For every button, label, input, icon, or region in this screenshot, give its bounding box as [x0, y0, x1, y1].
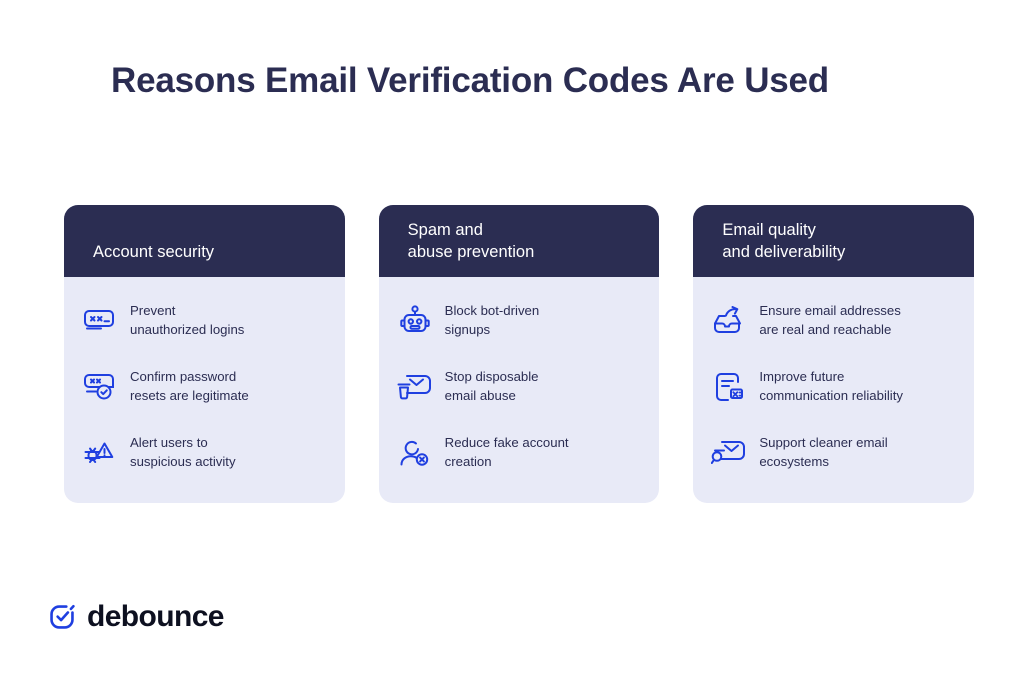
list-item-line-1: Stop disposable [445, 369, 539, 384]
list-item-line-1: Confirm password [130, 369, 236, 384]
list-item-line-1: Improve future [759, 369, 844, 384]
list-item: Confirm password resets are legitimate [82, 367, 327, 411]
list-item: Prevent unauthorized logins [82, 301, 327, 345]
card-header-line-1: Account security [93, 242, 345, 264]
card-header-line-1: Email quality [722, 220, 974, 242]
user-blocked-icon [397, 435, 433, 471]
card-header-line-2: abuse prevention [408, 242, 660, 264]
list-item-line-1: Alert users to [130, 435, 208, 450]
bug-alert-icon [82, 435, 118, 471]
list-item-text: Reduce fake account creation [445, 433, 569, 471]
list-item-line-1: Ensure email addresses [759, 303, 900, 318]
list-item-line-2: email abuse [445, 387, 539, 406]
list-item: Stop disposable email abuse [397, 367, 642, 411]
password-field-icon [82, 303, 118, 339]
card-account-security: Account security Prev [64, 205, 345, 503]
brand-wordmark: debounce [87, 602, 224, 632]
robot-icon [397, 303, 433, 339]
infographic-page: Reasons Email Verification Codes Are Use… [0, 0, 1024, 683]
list-item: Reduce fake account creation [397, 433, 642, 477]
list-item-line-2: suspicious activity [130, 453, 236, 472]
list-item-text: Ensure email addresses are real and reac… [759, 301, 900, 339]
list-item-line-1: Support cleaner email [759, 435, 887, 450]
document-lines-icon [711, 369, 747, 405]
list-item: Block bot-driven signups [397, 301, 642, 345]
list-item-text: Alert users to suspicious activity [130, 433, 236, 471]
card-body: Prevent unauthorized logins [64, 277, 345, 503]
list-item: Support cleaner email ecosystems [711, 433, 956, 477]
email-search-icon [711, 435, 747, 471]
card-email-quality-deliverability: Email quality and deliverability Ensu [693, 205, 974, 503]
disposable-email-icon [397, 369, 433, 405]
card-header-line-1: Spam and [408, 220, 660, 242]
list-item-text: Block bot-driven signups [445, 301, 540, 339]
list-item: Alert users to suspicious activity [82, 433, 327, 477]
card-body: Ensure email addresses are real and reac… [693, 277, 974, 503]
card-spam-abuse-prevention: Spam and abuse prevention [379, 205, 660, 503]
list-item-line-2: communication reliability [759, 387, 903, 406]
card-body: Block bot-driven signups St [379, 277, 660, 503]
list-item-text: Stop disposable email abuse [445, 367, 539, 405]
list-item-text: Support cleaner email ecosystems [759, 433, 887, 471]
card-header: Spam and abuse prevention [379, 205, 660, 277]
card-header: Account security [64, 205, 345, 277]
list-item: Improve future communication reliability [711, 367, 956, 411]
list-item-line-1: Block bot-driven [445, 303, 540, 318]
list-item-text: Prevent unauthorized logins [130, 301, 244, 339]
list-item-line-2: resets are legitimate [130, 387, 249, 406]
inbox-arrow-icon [711, 303, 747, 339]
card-header-line-2: and deliverability [722, 242, 974, 264]
list-item-line-1: Prevent [130, 303, 175, 318]
card-header: Email quality and deliverability [693, 205, 974, 277]
list-item-line-1: Reduce fake account [445, 435, 569, 450]
check-circle-icon [48, 603, 76, 631]
list-item-text: Confirm password resets are legitimate [130, 367, 249, 405]
brand-logo: debounce [48, 602, 224, 632]
list-item-text: Improve future communication reliability [759, 367, 903, 405]
cards-row: Account security Prev [64, 205, 974, 503]
page-title: Reasons Email Verification Codes Are Use… [111, 60, 951, 102]
list-item-line-2: unauthorized logins [130, 321, 244, 340]
list-item: Ensure email addresses are real and reac… [711, 301, 956, 345]
list-item-line-2: ecosystems [759, 453, 887, 472]
list-item-line-2: are real and reachable [759, 321, 900, 340]
password-verified-icon [82, 369, 118, 405]
list-item-line-2: creation [445, 453, 569, 472]
list-item-line-2: signups [445, 321, 540, 340]
